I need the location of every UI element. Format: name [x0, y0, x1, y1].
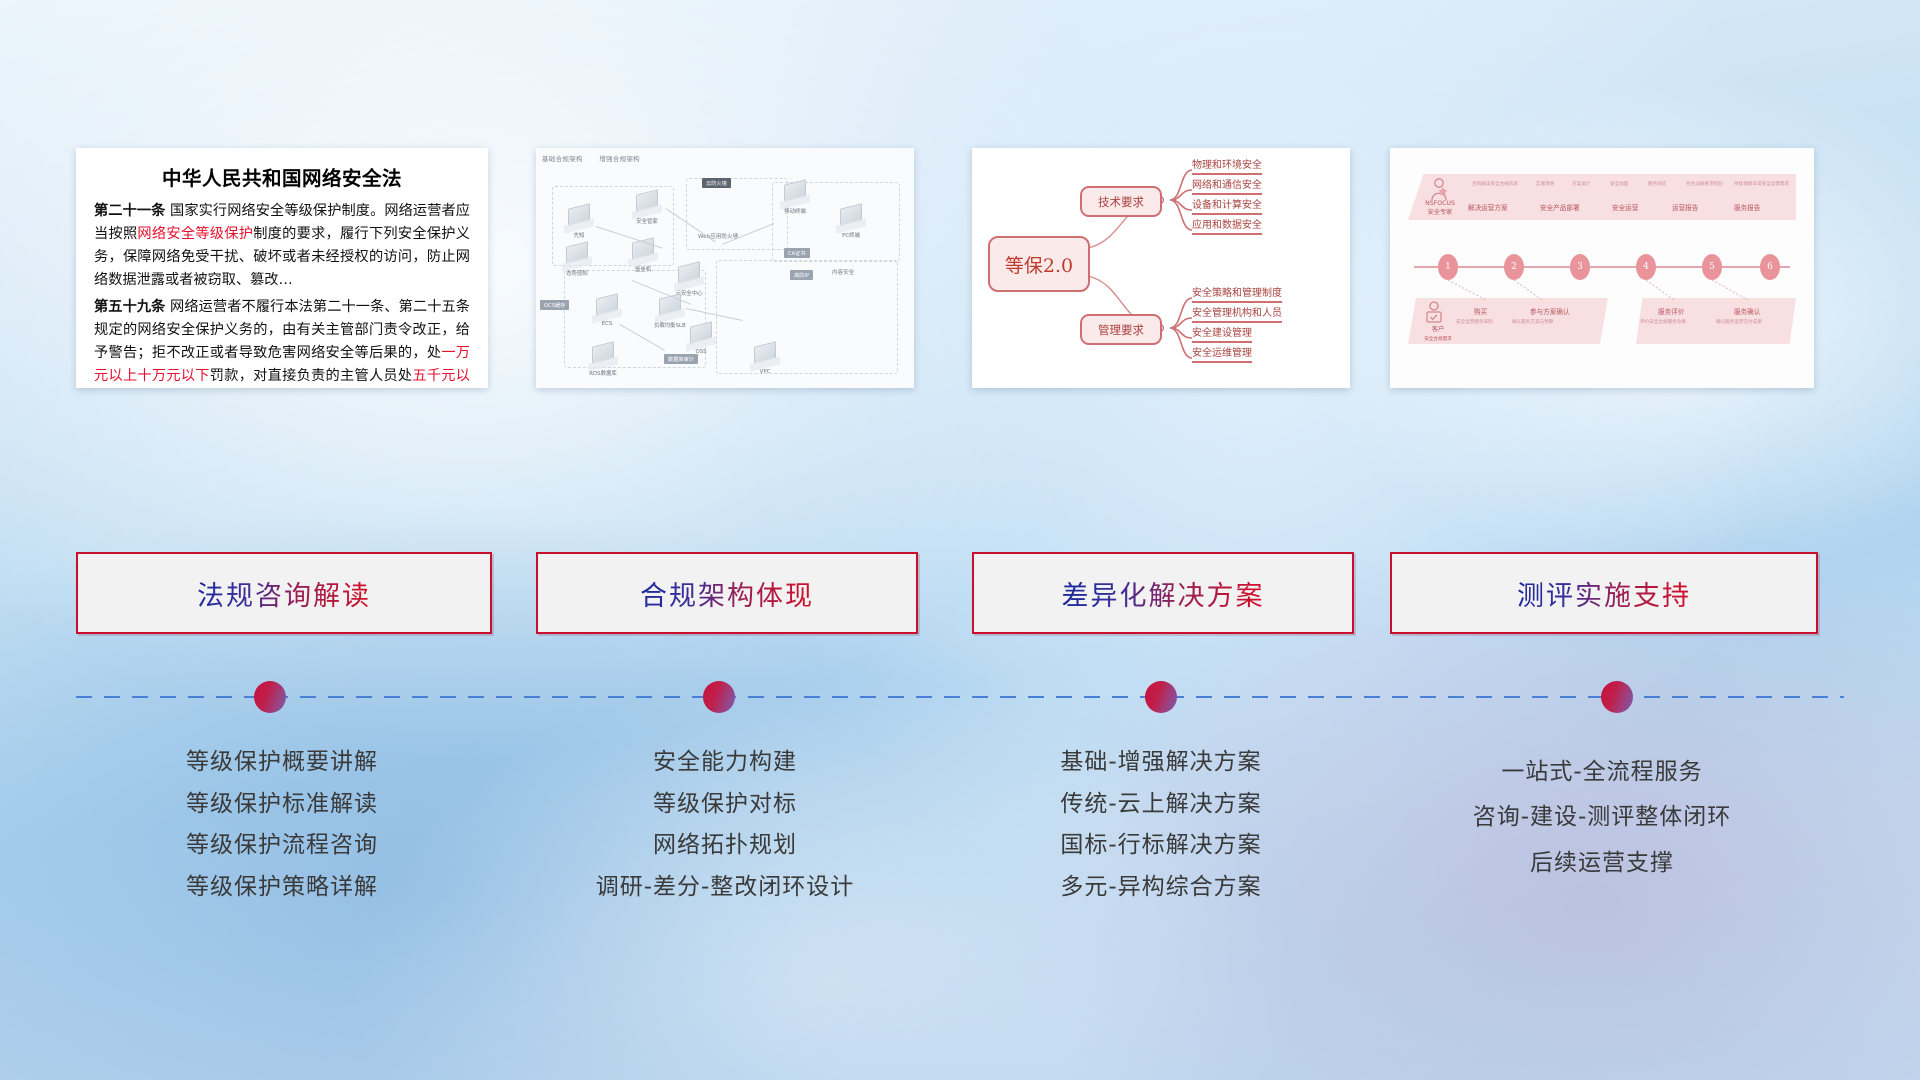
arch-header-basic: 基础合规架构	[542, 155, 583, 163]
thumbnail-card-row: 中华人民共和国网络安全法 第二十一条 国家实行网络安全等级保护制度。网络运营者应…	[0, 0, 1920, 420]
arch-node-mobile: 移动终端	[780, 182, 810, 215]
article-21-label: 第二十一条	[94, 203, 165, 219]
mindmap-branch-technical: 技术要求	[1080, 186, 1162, 217]
arch-chip-ca: CA证书	[784, 248, 810, 258]
bullet-list-1: 等级保护概要讲解 等级保护标准解读 等级保护流程咨询 等级保护策略详解	[76, 742, 488, 909]
arch-chip-db-audit: 数据库审计	[664, 354, 698, 364]
mindmap-card: 等保2.0 技术要求 管理要求 物理和环境安全 网络和通信安全 设备和计算安全 …	[972, 148, 1350, 388]
arch-node-guanjia: 安全管家	[632, 192, 662, 225]
mindmap-leaf-mgmt-4: 安全运维管理	[1192, 344, 1252, 363]
list-item: 后续运营支撑	[1390, 841, 1814, 886]
list-item: 等级保护流程咨询	[76, 825, 488, 867]
arch-node-vpc: VPC	[750, 344, 780, 375]
timeline-dot-2	[703, 681, 735, 713]
arch-node-rds: RDS数据库	[588, 344, 618, 377]
timeline-dashed-line	[76, 696, 1844, 698]
mindmap-branch-management: 管理要求	[1080, 314, 1162, 345]
arch-label-content-security: 内容安全	[832, 268, 854, 276]
arch-header: 基础合规架构 增强合规架构	[542, 153, 654, 163]
arch-node-xianzhi: 先知	[564, 206, 594, 239]
article-21-highlight: 网络安全等级保护	[137, 226, 253, 242]
mindmap-root-node: 等保2.0	[988, 236, 1090, 292]
arch-node-situation: 态势感知	[562, 244, 592, 277]
list-item: 传统-云上解决方案	[972, 784, 1350, 826]
list-item: 等级保护标准解读	[76, 784, 488, 826]
list-item: 等级保护对标	[536, 784, 914, 826]
headline-text-2: 合规架构体现	[640, 574, 814, 613]
list-item: 等级保护概要讲解	[76, 742, 488, 784]
list-item: 安全能力构建	[536, 742, 914, 784]
flow-dotted-connectors	[1390, 148, 1814, 388]
timeline-dot-1	[254, 681, 286, 713]
headline-text-4: 测评实施支持	[1517, 574, 1691, 613]
mindmap-leaf-tech-4: 应用和数据安全	[1192, 216, 1262, 235]
arch-node-pc: PC终端	[836, 206, 866, 239]
mindmap-leaf-tech-1: 物理和环境安全	[1192, 156, 1262, 175]
arch-chip-anti-ddos: 高防IP	[790, 270, 813, 280]
arch-node-ecs: ECS	[592, 296, 622, 327]
list-item: 一站式-全流程服务	[1390, 750, 1814, 795]
headline-box-1[interactable]: 法规咨询解读	[76, 552, 492, 634]
list-item: 基础-增强解决方案	[972, 742, 1350, 784]
mindmap-leaf-tech-3: 设备和计算安全	[1192, 196, 1262, 215]
mindmap-leaf-tech-2: 网络和通信安全	[1192, 176, 1262, 195]
arch-node-cloud-security-center: 云安全中心	[674, 264, 704, 297]
list-item: 网络拓扑规划	[536, 825, 914, 867]
headline-box-2[interactable]: 合规架构体现	[536, 552, 918, 634]
bullet-list-3: 基础-增强解决方案 传统-云上解决方案 国标-行标解决方案 多元-异构综合方案	[972, 742, 1350, 909]
architecture-diagram-card: 基础合规架构 增强合规架构 云防火墙 先知 态势感知 安全管家	[536, 148, 914, 388]
article-59-label: 第五十九条	[94, 299, 165, 315]
law-card-title: 中华人民共和国网络安全法	[94, 162, 470, 191]
law-text-card: 中华人民共和国网络安全法 第二十一条 国家实行网络安全等级保护制度。网络运营者应…	[76, 148, 488, 388]
list-item: 国标-行标解决方案	[972, 825, 1350, 867]
list-item: 调研-差分-整改闭环设计	[536, 867, 914, 909]
headline-text-3: 差异化解决方案	[1062, 574, 1265, 613]
arch-node-oss: OSS	[686, 324, 716, 355]
headline-box-3[interactable]: 差异化解决方案	[972, 552, 1354, 634]
law-article-59: 第五十九条 网络运营者不履行本法第二十一条、第二十五条规定的网络安全保护义务的，…	[94, 296, 470, 388]
list-item: 多元-异构综合方案	[972, 867, 1350, 909]
arch-chip-firewall: 云防火墙	[702, 178, 731, 188]
article-59-text-b: 罚款，对直接负责的主管人员处	[210, 368, 413, 384]
timeline-dot-4	[1601, 681, 1633, 713]
bullet-list-2: 安全能力构建 等级保护对标 网络拓扑规划 调研-差分-整改闭环设计	[536, 742, 914, 909]
mindmap-leaf-mgmt-2: 安全管理机构和人员	[1192, 304, 1282, 323]
list-item: 等级保护策略详解	[76, 867, 488, 909]
law-article-21: 第二十一条 国家实行网络安全等级保护制度。网络运营者应当按照网络安全等级保护制度…	[94, 200, 470, 292]
arch-chip-ocs: OCS缓存	[540, 300, 569, 310]
arch-header-enhanced: 增强合规架构	[599, 155, 640, 163]
headline-box-4[interactable]: 测评实施支持	[1390, 552, 1818, 634]
headline-text-1: 法规咨询解读	[197, 574, 371, 613]
list-item: 咨询-建设-测评整体闭环	[1390, 795, 1814, 840]
mindmap-leaf-mgmt-3: 安全建设管理	[1192, 324, 1252, 343]
timeline-dot-3	[1145, 681, 1177, 713]
bullet-list-4: 一站式-全流程服务 咨询-建设-测评整体闭环 后续运营支撑	[1390, 750, 1814, 886]
service-flow-card: NSFOCUS 安全专家 咨询解读安全合规诉求 实施落地 方案设计 安全加固 服…	[1390, 148, 1814, 388]
mindmap-leaf-mgmt-1: 安全策略和管理制度	[1192, 284, 1282, 303]
